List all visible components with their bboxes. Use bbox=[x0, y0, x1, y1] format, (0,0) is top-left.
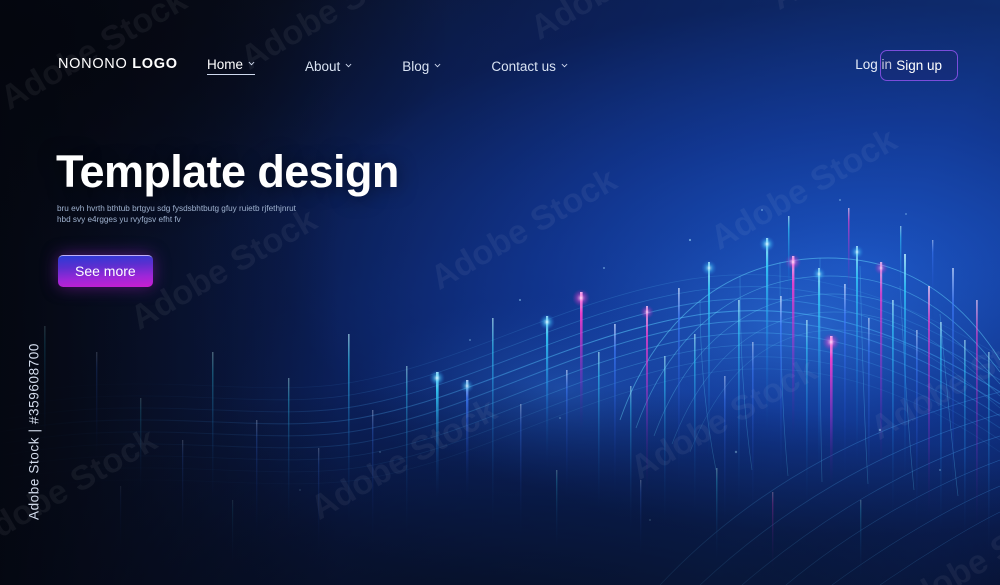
stock-credit-label: Adobe Stock | #359608700 bbox=[27, 312, 42, 552]
see-more-button[interactable]: See more bbox=[58, 255, 153, 287]
background-artwork bbox=[0, 0, 1000, 585]
nav-links: Home About Blog Contact us bbox=[207, 57, 568, 75]
chevron-down-icon bbox=[434, 62, 441, 69]
chevron-down-icon bbox=[561, 62, 568, 69]
hero-description-line-2: hbd svy e4rgges yu rvyfgsv efht fv bbox=[57, 214, 322, 225]
nav-item-blog[interactable]: Blog bbox=[402, 59, 441, 74]
signup-button[interactable]: Sign up bbox=[880, 50, 958, 81]
hero-description: bru evh hvrth bthtub brtgyu sdg fysdsbht… bbox=[57, 203, 322, 225]
page-title: Template design bbox=[56, 146, 399, 198]
chevron-down-icon bbox=[248, 60, 255, 67]
nav-item-about[interactable]: About bbox=[305, 59, 352, 74]
site-logo[interactable]: NONONO LOGO bbox=[58, 56, 178, 72]
logo-text-plain: NONONO bbox=[58, 56, 132, 72]
navbar: NONONO LOGO Home About Blog Contact us L… bbox=[0, 50, 1000, 84]
hero-banner: Adobe Stock Adobe Stock Adobe Stock Adob… bbox=[0, 0, 1000, 585]
hero-description-line-1: bru evh hvrth bthtub brtgyu sdg fysdsbht… bbox=[57, 203, 322, 214]
logo-text-bold: LOGO bbox=[132, 56, 178, 72]
nav-item-label: Blog bbox=[402, 59, 429, 74]
chevron-down-icon bbox=[345, 62, 352, 69]
nav-item-label: Home bbox=[207, 57, 243, 72]
nav-item-home[interactable]: Home bbox=[207, 57, 255, 75]
nav-item-label: About bbox=[305, 59, 340, 74]
nav-item-contact-us[interactable]: Contact us bbox=[491, 59, 568, 74]
nav-item-label: Contact us bbox=[491, 59, 556, 74]
